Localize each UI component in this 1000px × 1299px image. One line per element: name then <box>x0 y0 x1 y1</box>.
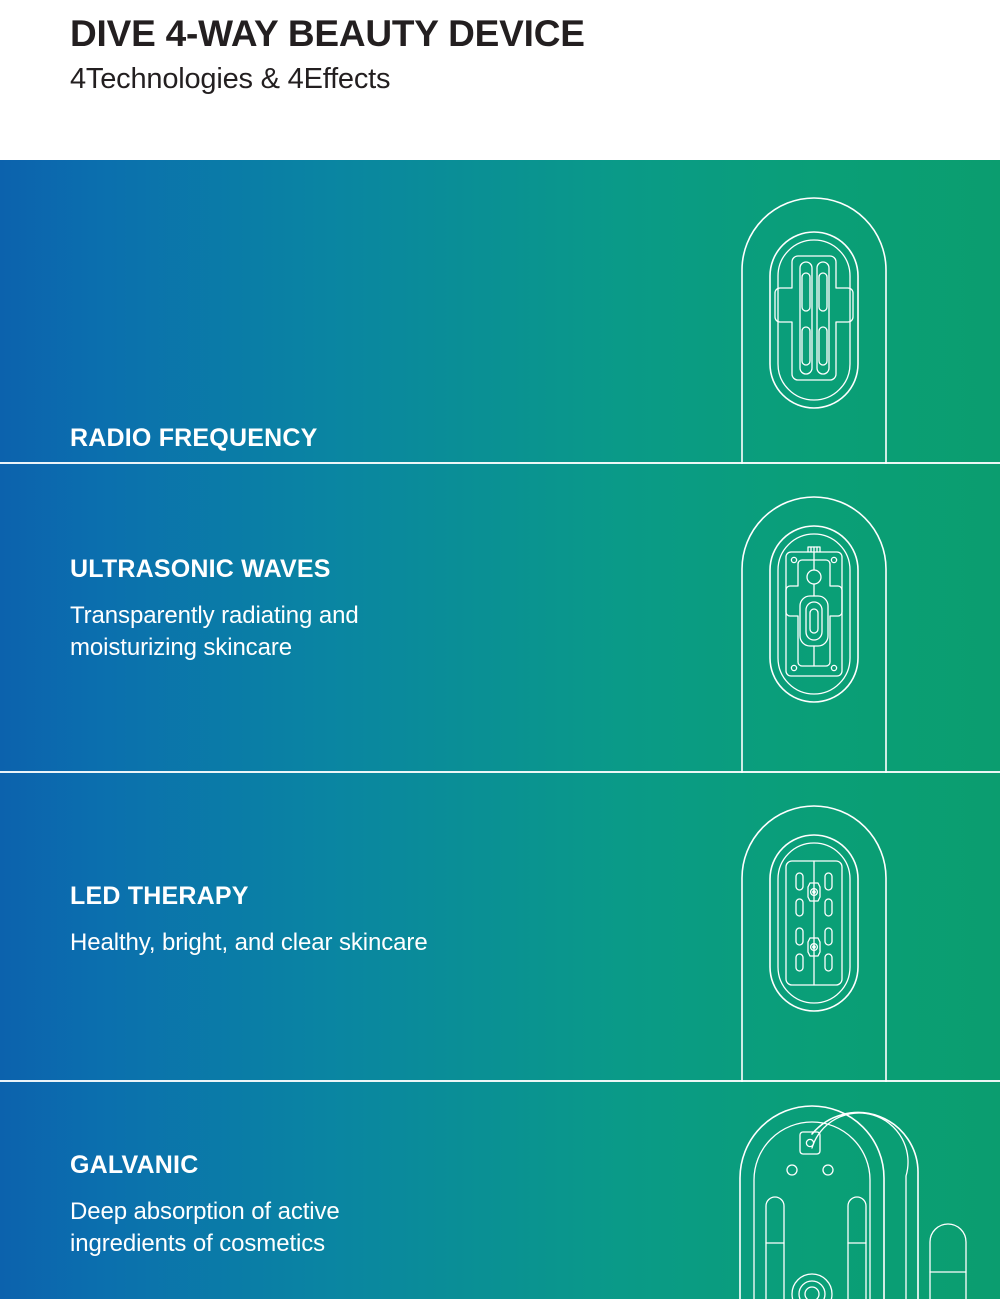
galvanic-probe-device-icon <box>730 1082 1000 1299</box>
panel-title-galvanic: GALVANIC <box>70 1152 340 1180</box>
page-subtitle: 4Technologies & 4Effects <box>70 54 1000 96</box>
feature-panel-ultrasonic-waves: ULTRASONIC WAVES Transparently radiating… <box>0 464 1000 773</box>
ultrasonic-transducer-device-icon <box>730 464 1000 773</box>
panel-text-block: ULTRASONIC WAVES Transparently radiating… <box>70 556 359 665</box>
feature-panel-radio-frequency: RADIO FREQUENCY Firming skincare from wi… <box>0 160 1000 464</box>
feature-panel-stack: RADIO FREQUENCY Firming skincare from wi… <box>0 160 1000 1299</box>
panel-description-led-therapy: Healthy, bright, and clear skincare <box>70 911 428 960</box>
panel-description-ultrasonic-waves: Transparently radiating and moisturizing… <box>70 584 359 665</box>
page-header: DIVE 4-WAY BEAUTY DEVICE 4Technologies &… <box>0 0 1000 160</box>
page-title: DIVE 4-WAY BEAUTY DEVICE <box>70 0 1000 54</box>
panel-title-radio-frequency: RADIO FREQUENCY <box>70 425 366 453</box>
panel-title-led-therapy: LED THERAPY <box>70 883 428 911</box>
rf-electrode-device-icon <box>730 160 1000 464</box>
led-array-device-icon <box>730 773 1000 1082</box>
panel-text-block: RADIO FREQUENCY Firming skincare from wi… <box>70 425 366 464</box>
feature-panel-galvanic: GALVANIC Deep absorption of active ingre… <box>0 1082 1000 1299</box>
panel-text-block: LED THERAPY Healthy, bright, and clear s… <box>70 883 428 959</box>
panel-description-galvanic: Deep absorption of active ingredients of… <box>70 1180 340 1261</box>
panel-divider <box>0 1080 1000 1082</box>
feature-panel-led-therapy: LED THERAPY Healthy, bright, and clear s… <box>0 773 1000 1082</box>
panel-divider <box>0 462 1000 464</box>
panel-title-ultrasonic-waves: ULTRASONIC WAVES <box>70 556 359 584</box>
panel-text-block: GALVANIC Deep absorption of active ingre… <box>70 1152 340 1261</box>
panel-divider <box>0 771 1000 773</box>
